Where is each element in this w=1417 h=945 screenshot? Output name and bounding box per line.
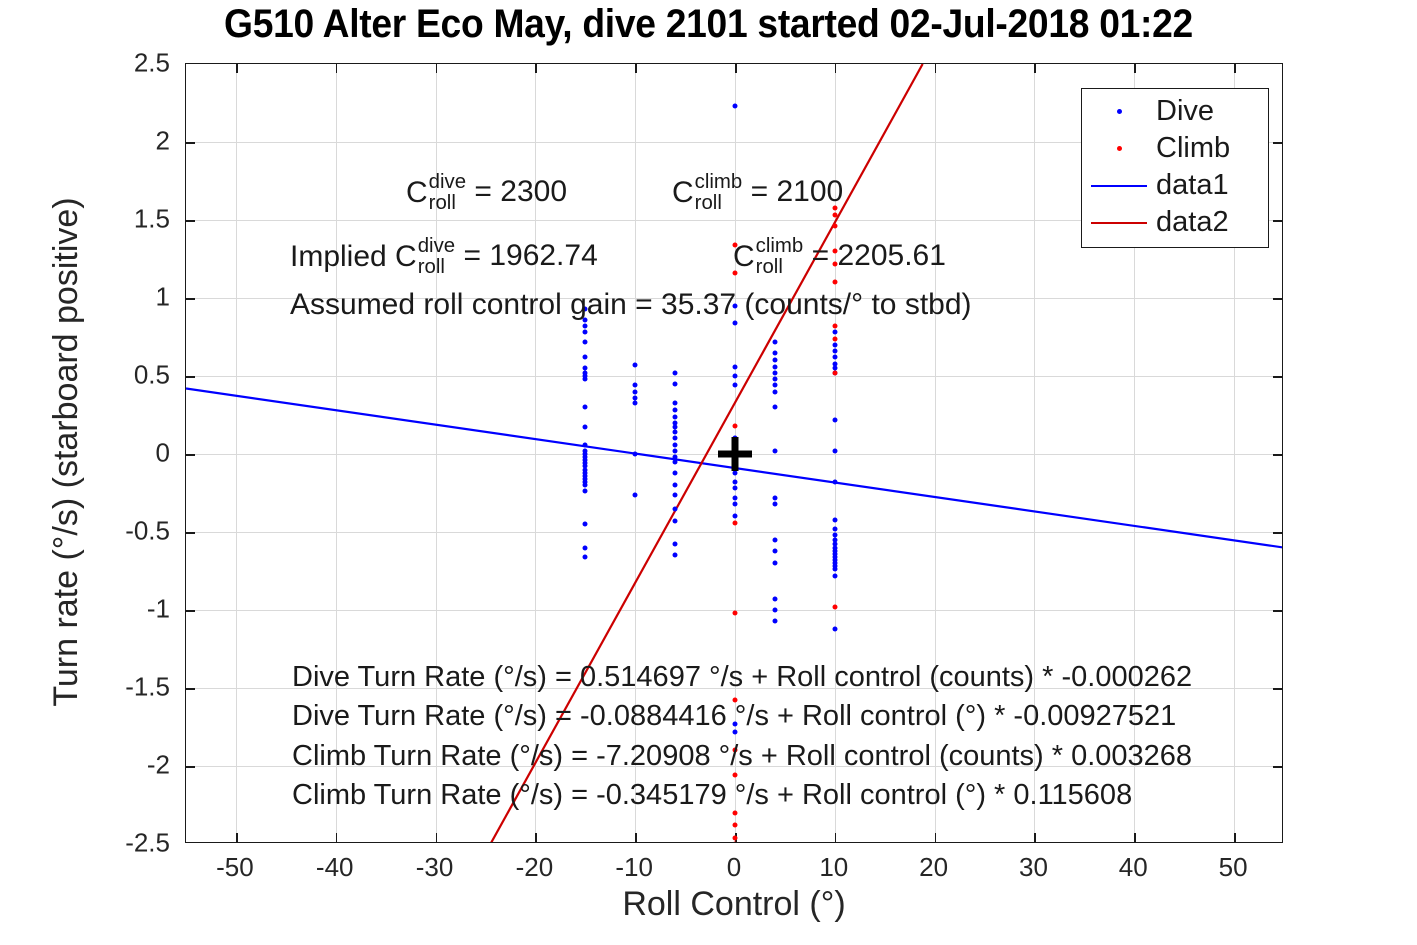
data-point-climb [733,423,738,428]
data-point-dive [772,350,777,355]
legend-label-climb: Climb [1156,134,1230,163]
data-point-dive [583,489,588,494]
data-point-dive [832,342,837,347]
data-point-dive [772,364,777,369]
data-point-dive [583,554,588,559]
c-climb-symbol: C [672,176,694,210]
y-tick-label: 1 [104,282,170,313]
data-point-dive [583,405,588,410]
data-point-dive [583,355,588,360]
x-tick-label: -10 [615,852,653,883]
data-point-dive [832,517,837,522]
legend-item-climb[interactable]: Climb [1082,130,1268,167]
x-tick-label: -30 [416,852,454,883]
x-tick-label: 30 [1019,852,1048,883]
data-point-dive [633,389,638,394]
data-point-dive [673,414,678,419]
data-point-dive [733,486,738,491]
data-point-dive [772,495,777,500]
data-point-dive [733,104,738,109]
data-point-dive [673,470,678,475]
data-point-climb [733,842,738,844]
legend-label-dive: Dive [1156,97,1214,126]
y-tick-label: 2.5 [104,48,170,79]
data-point-dive [772,597,777,602]
data-point-dive [832,573,837,578]
x-axis-label: Roll Control (°) [185,885,1283,924]
data-point-dive [673,492,678,497]
data-point-dive [583,377,588,382]
data-point-dive [733,501,738,506]
data-point-dive [832,448,837,453]
data-point-dive [733,364,738,369]
implied-dive-value: = 1962.74 [463,239,597,272]
implied-dive-superscript: dive [418,236,455,256]
x-tick-label: 10 [819,852,848,883]
x-tick-label: 40 [1119,852,1148,883]
x-tick-label: 20 [919,852,948,883]
data-point-dive [772,537,777,542]
data-point-dive [832,480,837,485]
data-point-dive [673,430,678,435]
implied-climb-subscript: roll [756,257,804,277]
data-point-climb [832,280,837,285]
climb-dot-icon [1082,146,1156,151]
data-point-dive [673,370,678,375]
c-dive-value: = 2300 [474,175,567,208]
data-point-climb [733,835,738,840]
data-point-dive [832,626,837,631]
data-point-dive [583,545,588,550]
data-point-climb [733,611,738,616]
origin-cross-marker [732,437,739,471]
figure-title: G510 Alter Eco May, dive 2101 started 02… [50,0,1368,50]
data-point-dive [633,452,638,457]
data-point-dive [832,526,837,531]
data-point-dive [673,459,678,464]
data-point-dive [673,400,678,405]
data-point-dive [772,377,777,382]
c-climb-superscript: climb [695,172,743,192]
legend-label-data2: data2 [1156,208,1229,237]
data-point-dive [583,324,588,329]
y-tick-label: 0.5 [104,360,170,391]
data-point-dive [583,425,588,430]
data1-line-icon [1082,185,1156,187]
annotation-c-dive: Cdiveroll = 2300 [406,172,567,214]
y-tick-label: 0 [104,438,170,469]
data-point-dive [583,339,588,344]
data-point-dive [633,363,638,368]
data-point-dive [772,448,777,453]
data-point-dive [673,442,678,447]
c-dive-symbol: C [406,176,428,210]
annotation-implied-c-climb: Cclimbroll = 2205.61 [733,236,946,278]
data-point-dive [733,383,738,388]
y-tick-label: -1 [104,594,170,625]
y-axis-label: Turn rate (°/s) (starboard positive) [47,62,91,842]
y-tick-label: 2 [104,126,170,157]
data-point-dive [772,608,777,613]
implied-climb-symbol: C [733,240,755,274]
data-point-dive [633,383,638,388]
data-point-dive [733,495,738,500]
data-point-dive [772,561,777,566]
data-point-dive [583,330,588,335]
data-point-dive [583,522,588,527]
y-tick-label: -1.5 [104,672,170,703]
c-dive-superscript: dive [429,172,466,192]
data-point-dive [583,483,588,488]
data-point-climb [733,773,738,778]
data-point-climb [733,823,738,828]
data-point-dive [832,330,837,335]
annotation-equation-3: Climb Turn Rate (°/s) = -7.20908 °/s + R… [292,740,1192,773]
y-tick-label: -0.5 [104,516,170,547]
dive-dot-icon [1082,109,1156,114]
data-point-dive [772,405,777,410]
data-point-dive [772,389,777,394]
implied-climb-value: = 2205.61 [812,239,946,272]
data-point-dive [633,492,638,497]
x-tick-label: -20 [516,852,554,883]
implied-dive-subscript: roll [418,257,455,277]
annotation-implied-c-dive: Implied Cdiveroll = 1962.74 [290,236,598,278]
data-point-dive [673,506,678,511]
data-point-dive [832,355,837,360]
y-tick-label: -2 [104,750,170,781]
implied-climb-superscript: climb [756,236,804,256]
c-climb-subscript: roll [695,193,743,213]
data-point-dive [772,501,777,506]
annotation-gain: Assumed roll control gain = 35.37 (count… [290,288,972,322]
data-point-climb [832,336,837,341]
data-point-dive [673,448,678,453]
implied-prefix: Implied C [290,240,417,274]
annotation-equation-4: Climb Turn Rate (°/s) = -0.345179 °/s + … [292,779,1132,812]
data-point-dive [583,442,588,447]
y-tick-label: -2.5 [104,828,170,859]
legend-item-dive[interactable]: Dive [1082,93,1268,130]
legend-label-data1: data1 [1156,171,1229,200]
annotation-c-climb: Cclimbroll = 2100 [672,172,843,214]
data-point-dive [772,370,777,375]
annotation-equation-2: Dive Turn Rate (°/s) = -0.0884416 °/s + … [292,700,1176,733]
data-point-dive [772,618,777,623]
data-point-dive [772,339,777,344]
c-climb-value: = 2100 [751,175,844,208]
data-point-climb [832,224,837,229]
data-point-dive [633,400,638,405]
data-point-climb [832,370,837,375]
legend-item-data2[interactable]: data2 [1082,204,1268,241]
c-dive-subscript: roll [429,193,466,213]
data-point-climb [832,324,837,329]
annotation-equation-1: Dive Turn Rate (°/s) = 0.514697 °/s + Ro… [292,661,1192,694]
data-point-dive [832,567,837,572]
x-tick-label: -40 [316,852,354,883]
data-point-dive [673,408,678,413]
data-point-dive [832,349,837,354]
x-tick-label: 50 [1219,852,1248,883]
data-point-dive [733,480,738,485]
data-point-climb [733,520,738,525]
data-point-dive [733,514,738,519]
data-point-dive [673,381,678,386]
data-point-dive [673,553,678,558]
data-point-dive [733,374,738,379]
legend-item-data1[interactable]: data1 [1082,167,1268,204]
data-point-dive [772,548,777,553]
data-point-dive [832,417,837,422]
data-point-dive [673,519,678,524]
data-point-dive [772,383,777,388]
data2-line-icon [1082,222,1156,224]
legend: Dive Climb data1 data2 [1081,88,1269,248]
x-tick-label: 0 [727,852,741,883]
y-tick-label: 1.5 [104,204,170,235]
x-tick-label: -50 [216,852,254,883]
data-point-dive [673,436,678,441]
data-point-dive [673,542,678,547]
data-point-dive [673,483,678,488]
data-point-climb [832,604,837,609]
data-point-dive [772,358,777,363]
